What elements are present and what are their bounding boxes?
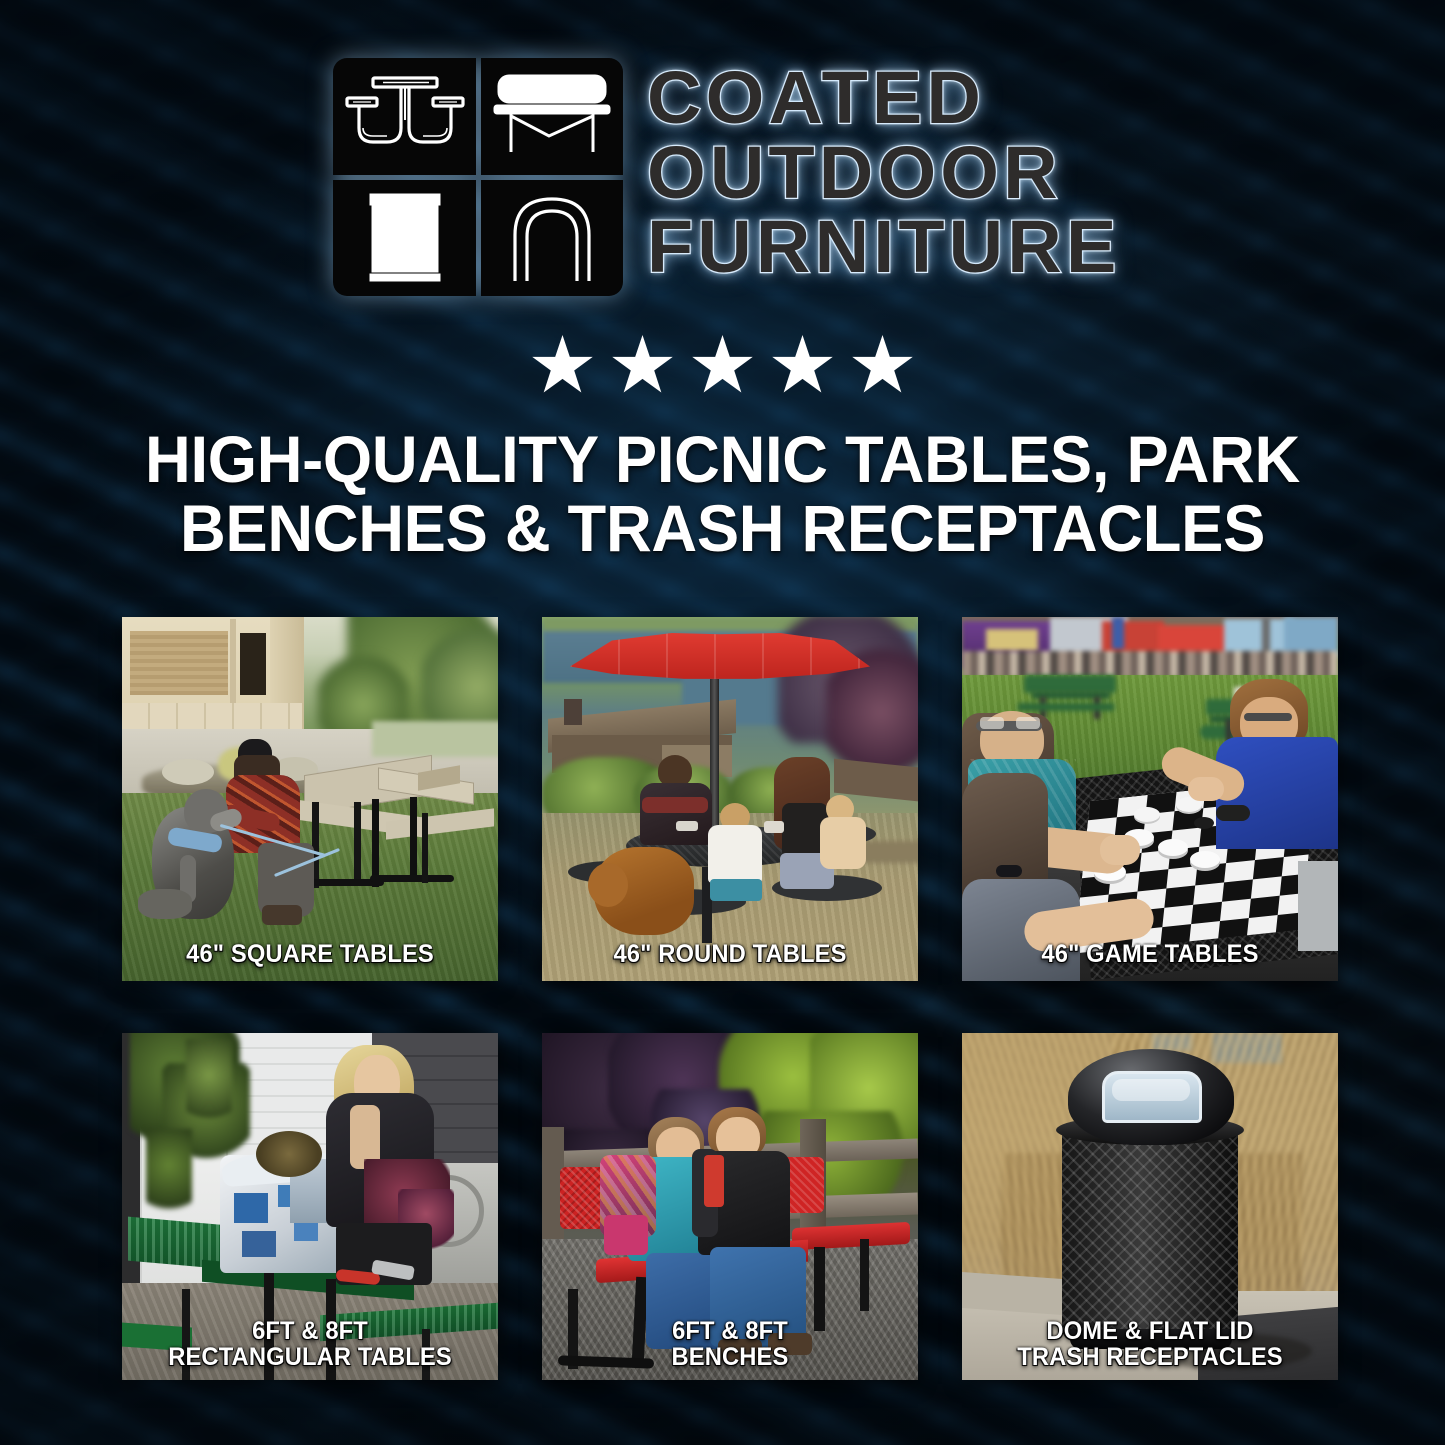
star-icon — [692, 335, 754, 397]
tile-caption: DOME & FLAT LID TRASH RECEPTACLES — [971, 1318, 1328, 1370]
logo-icon-grid — [333, 58, 623, 296]
star-rating — [0, 335, 1445, 397]
caption-line: 46" SQUARE TABLES — [131, 941, 488, 967]
photo-square-tables — [122, 617, 498, 981]
star-icon — [852, 335, 914, 397]
product-tile-round-tables[interactable]: 46" ROUND TABLES — [542, 617, 918, 981]
product-tile-square-tables[interactable]: 46" SQUARE TABLES — [122, 617, 498, 981]
caption-line: 6FT & 8FT — [551, 1318, 908, 1344]
star-icon — [772, 335, 834, 397]
tile-caption: 46" GAME TABLES — [971, 941, 1328, 967]
brand-line-3: FURNITURE — [647, 211, 1120, 284]
picnic-table-icon — [333, 58, 476, 175]
headline-line-1: HIGH-QUALITY PICNIC TABLES, PARK — [87, 425, 1359, 494]
bike-rack-icon — [481, 180, 624, 297]
brand-line-1: COATED — [647, 62, 1120, 135]
caption-line: BENCHES — [551, 1344, 908, 1370]
product-grid: 46" SQUARE TABLES — [122, 617, 1338, 1380]
brand-logo: COATED OUTDOOR FURNITURE — [0, 58, 1445, 296]
brand-line-2: OUTDOOR — [647, 137, 1120, 210]
tile-caption: 46" ROUND TABLES — [551, 941, 908, 967]
brand-wordmark: COATED OUTDOOR FURNITURE — [647, 58, 1111, 284]
promotional-poster: COATED OUTDOOR FURNITURE HIGH-QUALITY PI… — [0, 0, 1445, 1445]
headline-line-2: BENCHES & TRASH RECEPTACLES — [87, 494, 1359, 563]
product-tile-rectangular-tables[interactable]: 6FT & 8FT RECTANGULAR TABLES — [122, 1033, 498, 1380]
headline: HIGH-QUALITY PICNIC TABLES, PARK BENCHES… — [87, 425, 1359, 562]
caption-line: 46" ROUND TABLES — [551, 941, 908, 967]
tile-caption: 6FT & 8FT RECTANGULAR TABLES — [131, 1318, 488, 1370]
star-icon — [612, 335, 674, 397]
tile-caption: 46" SQUARE TABLES — [131, 941, 488, 967]
bench-icon — [481, 58, 624, 175]
photo-round-tables — [542, 617, 918, 981]
star-icon — [532, 335, 594, 397]
caption-line: TRASH RECEPTACLES — [971, 1344, 1328, 1370]
photo-game-tables — [962, 617, 1338, 981]
product-tile-benches[interactable]: 6FT & 8FT BENCHES — [542, 1033, 918, 1380]
product-tile-trash-receptacles[interactable]: DOME & FLAT LID TRASH RECEPTACLES — [962, 1033, 1338, 1380]
caption-line: RECTANGULAR TABLES — [131, 1344, 488, 1370]
product-tile-game-tables[interactable]: 46" GAME TABLES — [962, 617, 1338, 981]
trash-receptacle-icon — [333, 180, 476, 297]
caption-line: 46" GAME TABLES — [971, 941, 1328, 967]
tile-caption: 6FT & 8FT BENCHES — [551, 1318, 908, 1370]
caption-line: DOME & FLAT LID — [971, 1318, 1328, 1344]
caption-line: 6FT & 8FT — [131, 1318, 488, 1344]
